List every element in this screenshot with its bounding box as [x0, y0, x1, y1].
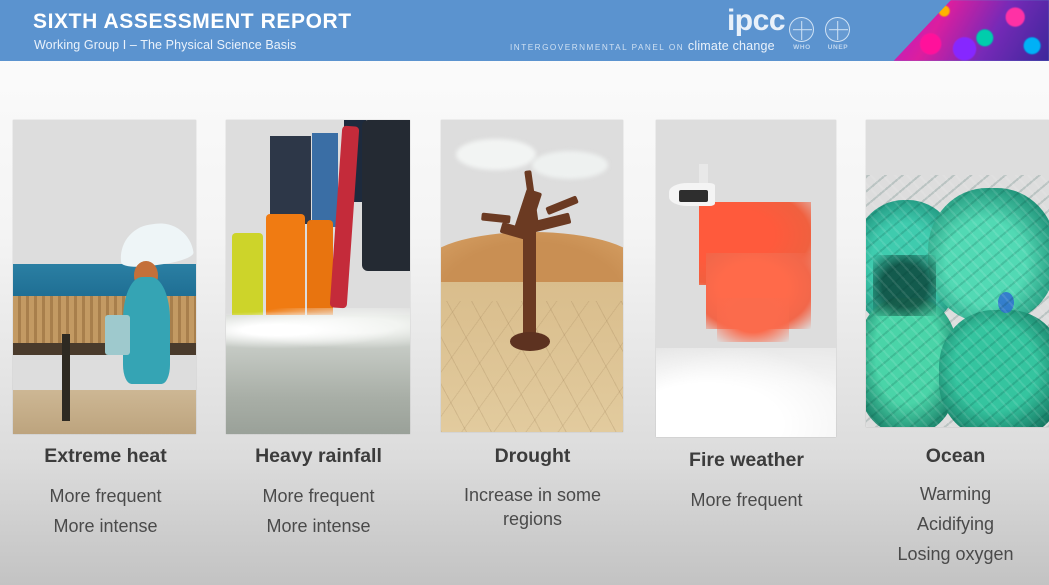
- card-title-fire-weather: Fire weather: [641, 448, 852, 472]
- extreme-heat-photo: [13, 120, 196, 434]
- page-subtitle: Working Group I – The Physical Science B…: [34, 38, 296, 52]
- unep-emblem: UNEP: [825, 17, 852, 44]
- agency-emblems: WHO UNEP: [789, 17, 855, 57]
- card-line: Losing oxygen: [862, 539, 1049, 569]
- who-label: WHO: [786, 44, 818, 51]
- unep-globe-icon: [825, 17, 850, 42]
- ipcc-logo: ipcc INTERGOVERNMENTAL PANEL ON climate …: [510, 6, 785, 56]
- card-line: More frequent: [0, 481, 211, 511]
- card-title-extreme-heat: Extreme heat: [0, 444, 211, 468]
- who-emblem: WHO: [789, 17, 816, 44]
- card-line: More frequent: [213, 481, 424, 511]
- ipcc-tagline-brand: climate change: [688, 39, 775, 53]
- unep-label: UNEP: [822, 44, 854, 51]
- card-title-heavy-rainfall: Heavy rainfall: [213, 444, 424, 468]
- card-line: More intense: [0, 511, 211, 541]
- caption-fire-weather: Fire weather More frequent: [641, 448, 852, 515]
- ipcc-tagline-prefix: INTERGOVERNMENTAL PANEL ON: [510, 43, 684, 52]
- card-drought: [441, 120, 623, 432]
- report-header: SIXTH ASSESSMENT REPORT Working Group I …: [0, 0, 1049, 61]
- card-line: More frequent: [641, 485, 852, 515]
- heavy-rainfall-photo: [226, 120, 410, 434]
- card-title-ocean: Ocean: [862, 444, 1049, 468]
- card-title-drought: Drought: [427, 444, 638, 468]
- page-title: SIXTH ASSESSMENT REPORT: [33, 10, 352, 34]
- card-line: Increase in some: [427, 483, 638, 507]
- who-globe-icon: [789, 17, 814, 42]
- caption-ocean: Ocean Warming Acidifying Losing oxygen: [862, 444, 1049, 569]
- card-line: More intense: [213, 511, 424, 541]
- caption-heavy-rainfall: Heavy rainfall More frequent More intens…: [213, 444, 424, 541]
- card-fire-weather: [656, 120, 836, 437]
- caption-extreme-heat: Extreme heat More frequent More intense: [0, 444, 211, 541]
- card-ocean: [866, 120, 1049, 427]
- ocean-photo: [866, 120, 1049, 427]
- ipcc-wordmark: ipcc: [727, 6, 785, 36]
- ipcc-tagline: INTERGOVERNMENTAL PANEL ON climate chang…: [510, 39, 785, 53]
- fire-weather-photo: [656, 120, 836, 437]
- card-extreme-heat: [13, 120, 196, 434]
- drought-photo: [441, 120, 623, 432]
- caption-drought: Drought Increase in some regions: [427, 444, 638, 531]
- decorative-corner-art: [880, 0, 1049, 61]
- card-line: Acidifying: [862, 509, 1049, 539]
- card-line: regions: [427, 507, 638, 531]
- card-line: Warming: [862, 479, 1049, 509]
- card-heavy-rainfall: [226, 120, 410, 434]
